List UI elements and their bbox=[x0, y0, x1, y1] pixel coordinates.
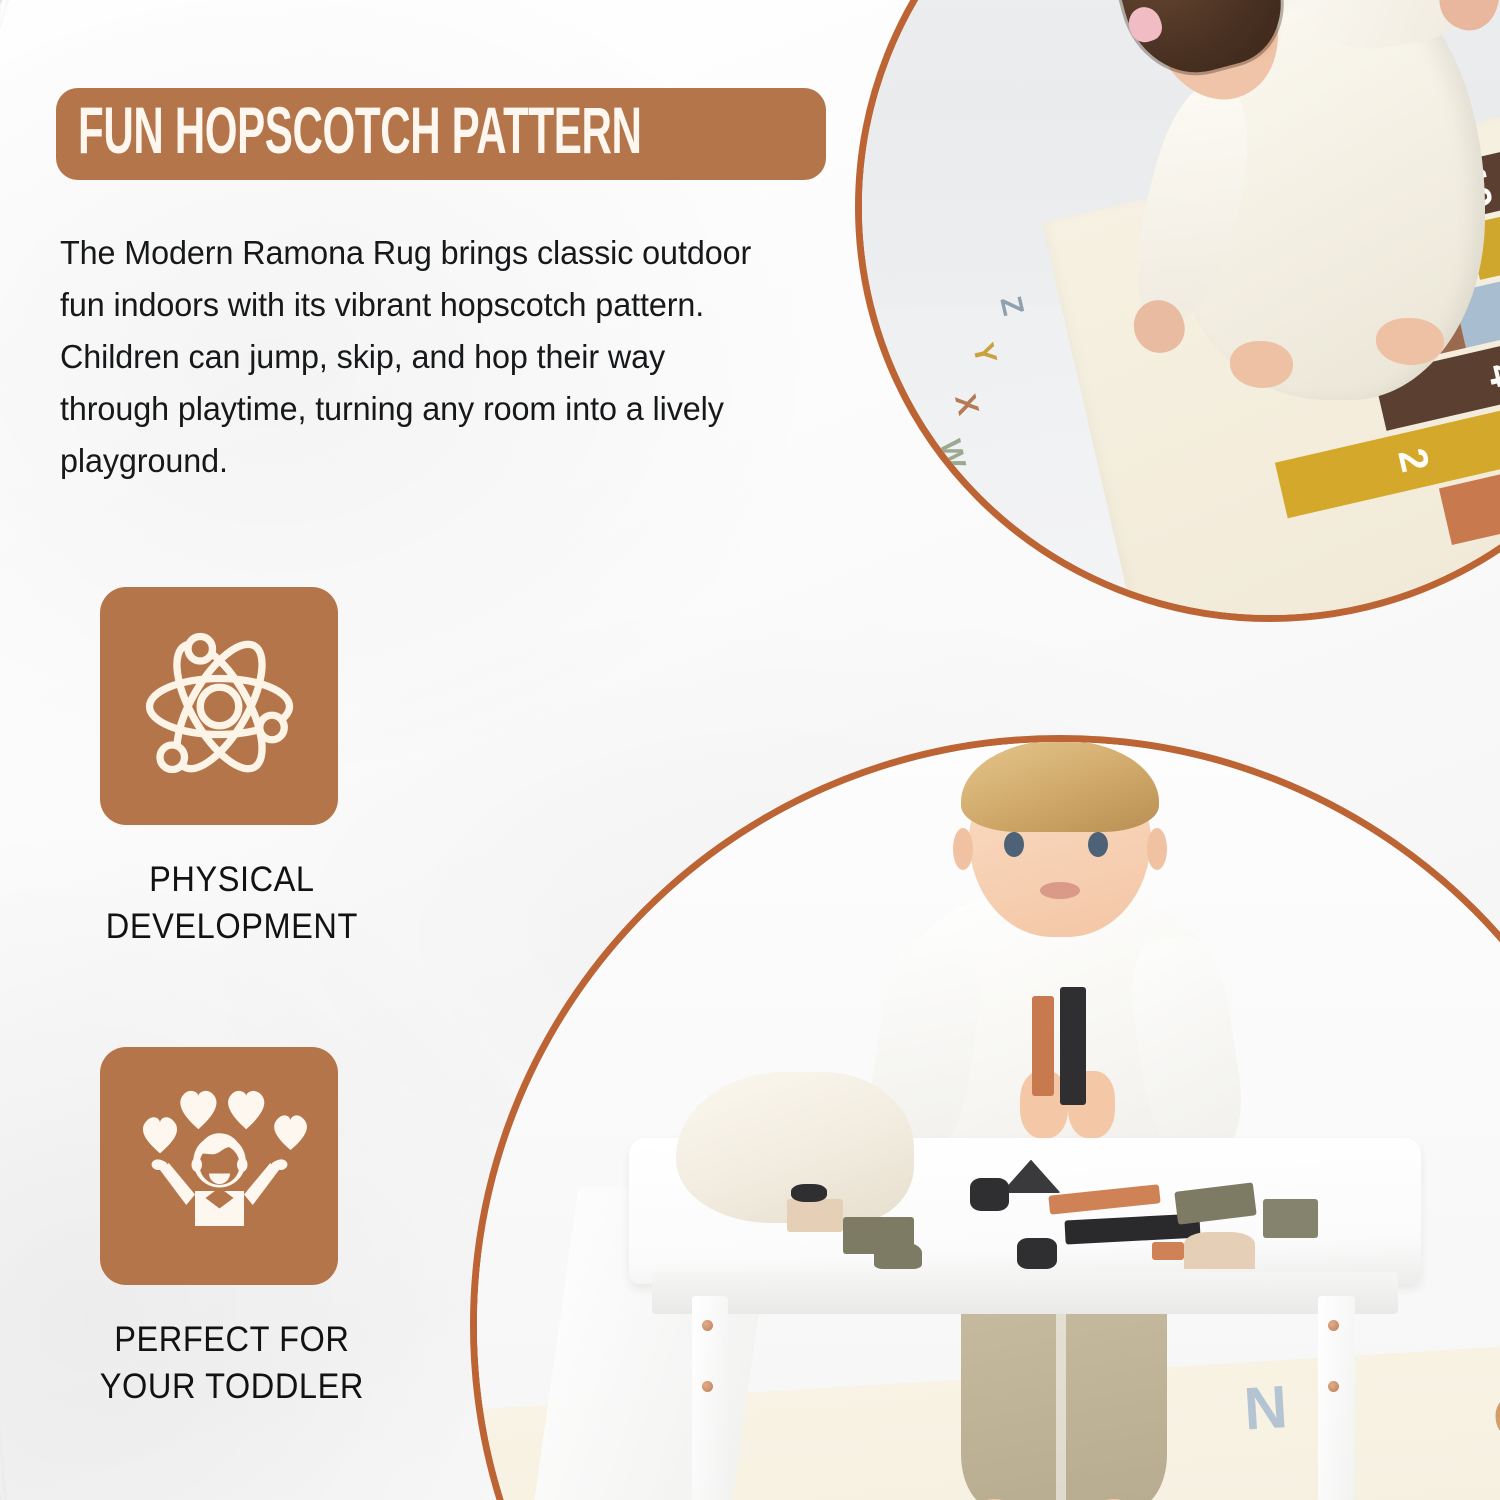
feature-label-line2: YOUR TODDLER bbox=[20, 1363, 444, 1410]
toy-block-black-cylinder bbox=[970, 1178, 1010, 1211]
rug-arc-letter-O: O bbox=[1484, 545, 1500, 598]
feature-label-line2: DEVELOPMENT bbox=[20, 903, 444, 950]
rug-letter-Y: Y bbox=[964, 340, 1002, 367]
atom-icon bbox=[132, 619, 307, 794]
boy-eye bbox=[1088, 832, 1108, 857]
left-content-panel: FUN HOPSCOTCH PATTERN The Modern Ramona … bbox=[0, 0, 840, 1500]
feature-physical-development: PHYSICAL DEVELOPMENT bbox=[0, 587, 460, 950]
toy-block-olive-wedge bbox=[874, 1242, 922, 1269]
girl-foot bbox=[1376, 318, 1445, 365]
toy-block-terracotta bbox=[1152, 1242, 1184, 1260]
toddler-girl bbox=[1074, 0, 1500, 435]
page-title: FUN HOPSCOTCH PATTERN bbox=[78, 98, 642, 164]
rug-arc-letter-O: O bbox=[1491, 1380, 1500, 1452]
boy-mouth bbox=[1040, 882, 1080, 899]
girl-foot bbox=[1230, 341, 1294, 388]
table-screw bbox=[1328, 1381, 1339, 1392]
rug-letter-X: X bbox=[946, 391, 984, 418]
page-title-badge: FUN HOPSCOTCH PATTERN bbox=[56, 88, 826, 180]
toy-block-black-cylinder bbox=[1017, 1238, 1057, 1268]
toy-block-beige-arch bbox=[1184, 1232, 1255, 1268]
description-paragraph: The Modern Ramona Rug brings classic out… bbox=[60, 228, 764, 488]
photo-toddler-girl-on-hopscotch-rug: 10 9 7 6 5 4 2 bbox=[855, 0, 1500, 622]
feature-label-line1: PHYSICAL bbox=[20, 856, 444, 903]
boy-ear bbox=[953, 828, 973, 870]
happy-child-hearts-icon bbox=[132, 1079, 307, 1254]
toy-block-black bbox=[1060, 987, 1086, 1105]
rug-letter-W: W bbox=[932, 437, 972, 472]
feature-perfect-for-toddler: PERFECT FOR YOUR TODDLER bbox=[0, 1047, 460, 1410]
feature-label: PERFECT FOR YOUR TODDLER bbox=[16, 1316, 444, 1410]
boy-hair bbox=[961, 742, 1159, 832]
toy-block-olive bbox=[1263, 1199, 1319, 1238]
feature-label: PHYSICAL DEVELOPMENT bbox=[16, 856, 444, 950]
infographic-canvas: 10 9 7 6 5 4 2 bbox=[0, 0, 1500, 1500]
feature-icon-tile bbox=[100, 587, 338, 825]
feature-label-line1: PERFECT FOR bbox=[20, 1316, 444, 1363]
toy-block-orange bbox=[1032, 996, 1054, 1097]
feature-icon-tile bbox=[100, 1047, 338, 1285]
boy-ear bbox=[1147, 828, 1167, 870]
